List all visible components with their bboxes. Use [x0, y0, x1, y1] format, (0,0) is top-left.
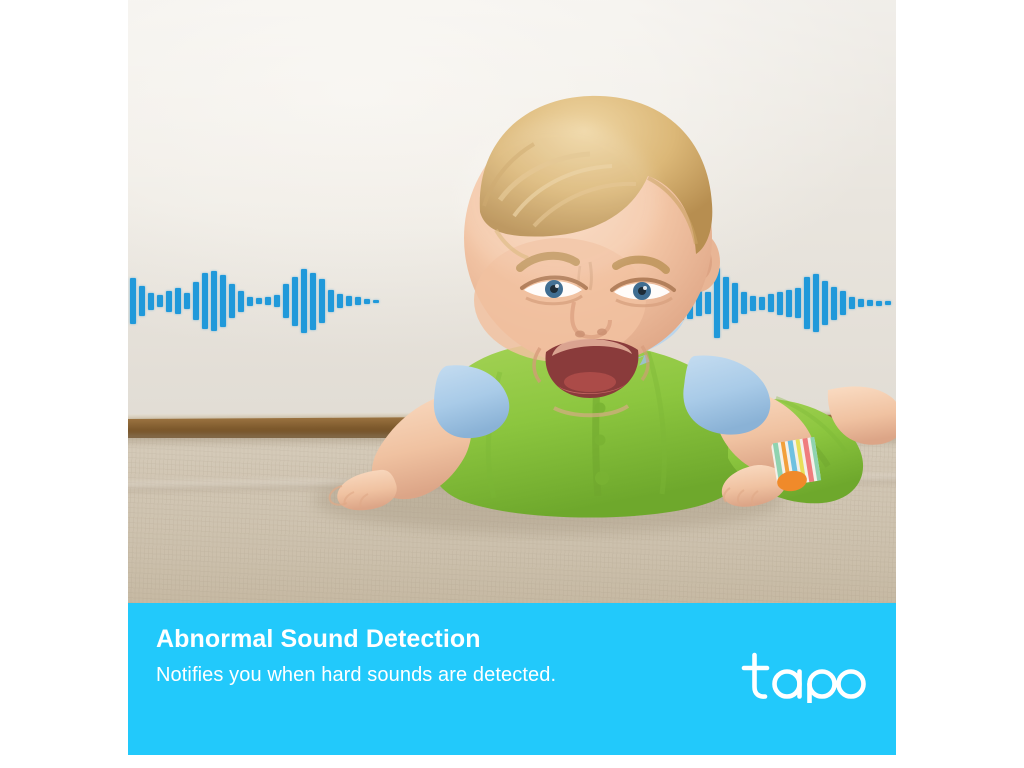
banner-title: Abnormal Sound Detection	[156, 625, 481, 654]
product-feature-photo	[128, 0, 896, 603]
tapo-brand-logo	[740, 651, 868, 703]
crying-baby-subject	[128, 0, 896, 603]
feature-banner: Abnormal Sound Detection Notifies you wh…	[128, 603, 896, 755]
page-canvas: Abnormal Sound Detection Notifies you wh…	[0, 0, 1024, 768]
banner-subtitle: Notifies you when hard sounds are detect…	[156, 664, 556, 687]
